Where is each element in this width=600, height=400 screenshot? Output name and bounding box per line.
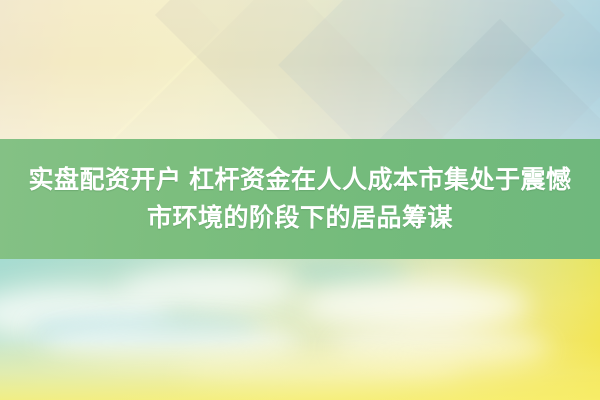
bottom-yellow-glow (0, 340, 600, 400)
top-decorative-panel (0, 0, 600, 140)
sky-wisp-top (290, 259, 410, 289)
cloud-shape (300, 281, 530, 329)
title-line-2: 市环境的阶段下的居品筹谋 (147, 199, 453, 237)
cloud-shape (40, 321, 300, 365)
bottom-sky-panel (0, 259, 600, 400)
title-line-1: 实盘配资开户 杠杆资金在人人成本市集处于震憾 (29, 161, 572, 199)
banner-image: 实盘配资开户 杠杆资金在人人成本市集处于震憾 市环境的阶段下的居品筹谋 (0, 0, 600, 400)
cloud-shape (180, 355, 460, 391)
cloud-shape (0, 287, 170, 339)
cloud-shape (120, 269, 300, 309)
top-panel-sheen (0, 0, 600, 140)
sky-wisp-mid (30, 317, 260, 343)
cloud-shape (330, 329, 550, 369)
title-band: 实盘配资开户 杠杆资金在人人成本市集处于震憾 市环境的阶段下的居品筹谋 (0, 139, 600, 259)
